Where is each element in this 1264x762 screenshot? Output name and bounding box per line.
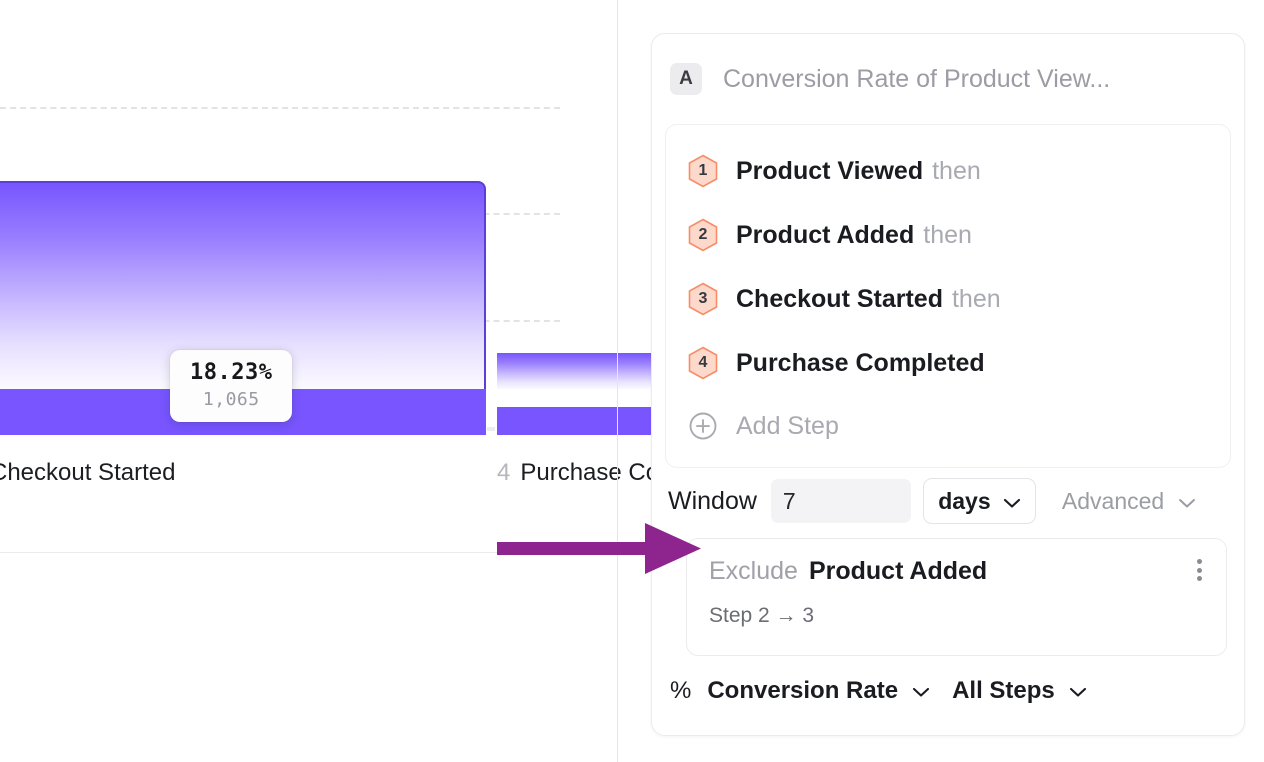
add-step-button[interactable]: Add Step: [666, 395, 1230, 457]
x-axis-label-checkout-started: Checkout Started: [0, 459, 175, 487]
step-hexagon-icon: 1: [688, 154, 718, 188]
chevron-down-icon: [1069, 677, 1087, 705]
step-number: 1: [699, 162, 708, 180]
step-connector: then: [932, 157, 981, 186]
step-connector: then: [952, 285, 1001, 314]
chart-bottom-strip: d 3Checkout S: [0, 553, 617, 762]
metric-select[interactable]: Conversion Rate: [707, 677, 930, 705]
tooltip-percent: 18.23%: [190, 360, 272, 385]
x-axis-label-index: 4: [497, 459, 510, 486]
funnel-bar-base: [497, 407, 667, 435]
chevron-down-icon: [1003, 488, 1021, 515]
step-row-1[interactable]: 1 Product Viewed then: [666, 139, 1230, 203]
funnel-bar-gradient: [497, 353, 667, 389]
exclusion-header: Exclude Product Added: [709, 557, 1204, 586]
step-hexagon-icon: 3: [688, 282, 718, 316]
add-step-label: Add Step: [736, 412, 839, 441]
window-unit-select[interactable]: days: [923, 478, 1036, 524]
funnel-builder-panel: A Conversion Rate of Product View... 1 P…: [651, 33, 1245, 736]
step-label: Product Added: [736, 221, 914, 250]
step-number: 4: [699, 354, 708, 372]
axis-tick: [487, 427, 495, 431]
step-connector: then: [923, 221, 972, 250]
metric-controls-row: % Conversion Rate All Steps: [652, 662, 1244, 720]
metric-label: Conversion Rate: [707, 677, 898, 705]
window-value-input[interactable]: [771, 479, 911, 523]
chevron-down-icon: [912, 677, 930, 705]
chart-x-axis-labels: Checkout Started 4Purchase Completed: [0, 459, 617, 495]
exclusion-card[interactable]: Exclude Product Added Step 2 → 3: [686, 538, 1227, 656]
steps-card: 1 Product Viewed then 2 Product Added th…: [665, 124, 1231, 468]
step-label: Product Viewed: [736, 157, 923, 186]
tooltip-count: 1,065: [190, 389, 272, 410]
x-axis-label-text: Checkout Started: [0, 459, 175, 486]
step-row-4[interactable]: 4 Purchase Completed: [666, 331, 1230, 395]
percent-icon: %: [670, 677, 691, 705]
funnel-bars: [0, 0, 617, 435]
step-label: Purchase Completed: [736, 349, 985, 378]
step-row-2[interactable]: 2 Product Added then: [666, 203, 1230, 267]
kebab-menu-icon[interactable]: [1186, 555, 1212, 585]
scope-label: All Steps: [952, 677, 1055, 705]
chevron-down-icon: [1178, 488, 1196, 515]
pane-divider: [617, 0, 618, 762]
screen-root: 18.23% 1,065 Checkout Started 4Purchase …: [0, 0, 1264, 762]
chart-tooltip: 18.23% 1,065: [170, 350, 292, 422]
step-number: 2: [699, 226, 708, 244]
plus-circle-icon: [688, 411, 718, 441]
advanced-toggle[interactable]: Advanced: [1062, 488, 1196, 515]
series-badge[interactable]: A: [670, 63, 702, 95]
step-number: 3: [699, 290, 708, 308]
window-unit-label: days: [938, 488, 990, 515]
exclusion-prefix: Exclude: [709, 557, 798, 586]
scope-select[interactable]: All Steps: [952, 677, 1087, 705]
conversion-window-row: Window days Advanced: [652, 468, 1244, 534]
exclusion-range: Step 2 → 3: [709, 604, 1204, 628]
panel-header: A Conversion Rate of Product View...: [652, 34, 1244, 124]
window-label: Window: [668, 487, 757, 516]
step-row-3[interactable]: 3 Checkout Started then: [666, 267, 1230, 331]
step-label: Checkout Started: [736, 285, 943, 314]
step-hexagon-icon: 4: [688, 346, 718, 380]
advanced-label: Advanced: [1062, 488, 1164, 515]
exclusion-event: Product Added: [809, 557, 987, 586]
panel-title[interactable]: Conversion Rate of Product View...: [723, 65, 1110, 94]
funnel-chart-pane: 18.23% 1,065 Checkout Started 4Purchase …: [0, 0, 617, 762]
step-hexagon-icon: 2: [688, 218, 718, 252]
